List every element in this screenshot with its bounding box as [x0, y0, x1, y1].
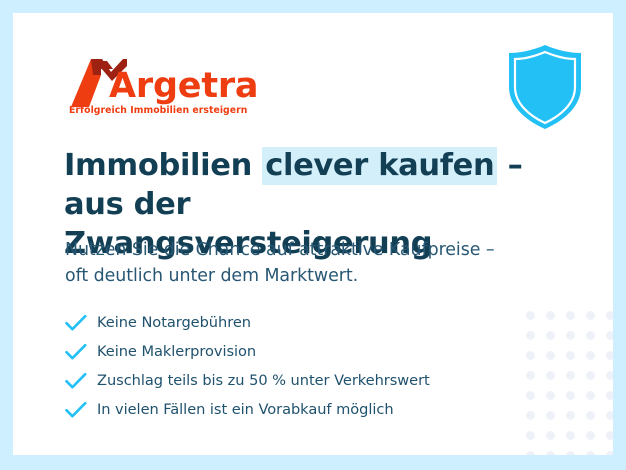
- check-icon: [65, 366, 97, 395]
- dot: [600, 425, 613, 445]
- benefit-label: Keine Notargebühren: [97, 314, 251, 331]
- dot: [560, 425, 580, 445]
- headline-line1-before: Immobilien: [64, 148, 262, 183]
- dot: [560, 445, 580, 455]
- dot: [540, 425, 560, 445]
- list-item: Keine Notargebühren: [65, 308, 535, 337]
- check-icon: [65, 337, 97, 366]
- dot: [560, 385, 580, 405]
- dot: [540, 445, 560, 455]
- shield-badge-icon: [501, 43, 589, 131]
- dot: [520, 445, 540, 455]
- dot: [600, 385, 613, 405]
- benefit-label: In vielen Fällen ist ein Vorabkauf mögli…: [97, 401, 394, 418]
- dot: [580, 305, 600, 325]
- dot: [580, 405, 600, 425]
- dot-grid-row: [520, 425, 613, 445]
- argetra-logo[interactable]: Argetra Erfolgreich Immobilien ersteiger…: [57, 49, 237, 121]
- dot: [540, 325, 560, 345]
- dot: [600, 405, 613, 425]
- dot: [560, 365, 580, 385]
- benefit-label: Zuschlag teils bis zu 50 % unter Verkehr…: [97, 372, 430, 389]
- dot: [580, 325, 600, 345]
- page-subheading: Nutzen Sie die Chance auf attraktive Kau…: [65, 237, 565, 290]
- promo-card: Argetra Erfolgreich Immobilien ersteiger…: [13, 13, 613, 455]
- badge-line-1: MARKT: [589, 64, 613, 79]
- list-item: In vielen Fällen ist ein Vorabkauf mögli…: [65, 395, 535, 424]
- logo-wordmark: Argetra: [109, 69, 258, 104]
- dot: [600, 345, 613, 365]
- badge-line-2: FÜHRER: [589, 78, 613, 93]
- subheading-line1: Nutzen Sie die Chance auf attraktive Kau…: [65, 240, 495, 260]
- check-icon: [65, 308, 97, 337]
- dot: [560, 325, 580, 345]
- dot: [600, 365, 613, 385]
- dot: [600, 305, 613, 325]
- list-item: Keine Maklerprovision: [65, 337, 535, 366]
- dot: [580, 365, 600, 385]
- list-item: Zuschlag teils bis zu 50 % unter Verkehr…: [65, 366, 535, 395]
- market-leader-badge: MARKT FÜHRER: [501, 43, 589, 131]
- badge-stars: [589, 93, 613, 108]
- logo-tagline: Erfolgreich Immobilien ersteigern: [69, 105, 247, 116]
- dot: [580, 385, 600, 405]
- dot: [520, 425, 540, 445]
- dot: [600, 325, 613, 345]
- dot: [540, 405, 560, 425]
- headline-highlight: clever kaufen: [262, 147, 497, 185]
- dot: [580, 345, 600, 365]
- dot: [560, 405, 580, 425]
- dot: [600, 445, 613, 455]
- dot: [560, 345, 580, 365]
- dot: [540, 385, 560, 405]
- dot: [540, 305, 560, 325]
- benefit-list: Keine NotargebührenKeine Maklerprovision…: [65, 308, 535, 424]
- dot: [540, 345, 560, 365]
- dot: [540, 365, 560, 385]
- check-icon: [65, 395, 97, 424]
- subheading-line2: oft deutlich unter dem Marktwert.: [65, 266, 358, 286]
- benefit-label: Keine Maklerprovision: [97, 343, 256, 360]
- dot: [580, 425, 600, 445]
- dot: [560, 305, 580, 325]
- dot: [580, 445, 600, 455]
- headline-line1-after: –: [497, 148, 522, 183]
- dot-grid-row: [520, 445, 613, 455]
